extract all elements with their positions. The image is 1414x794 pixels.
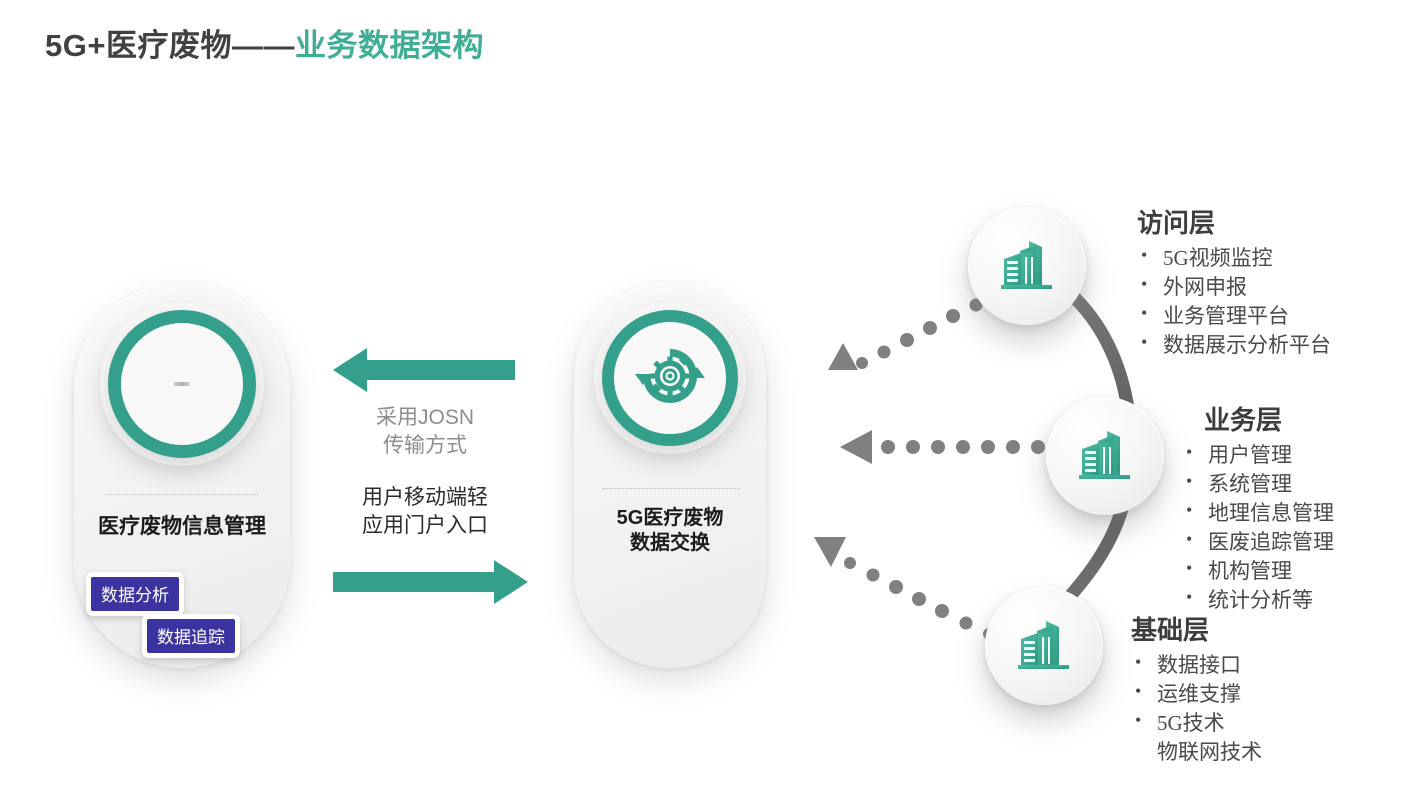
gear-recycle-icon (631, 337, 709, 420)
layer-node-business[interactable] (1046, 397, 1164, 515)
page-title-dark: 5G+医疗废物—— (45, 28, 295, 63)
list-item: 机构管理 (1182, 557, 1334, 586)
dotted-arrow-foundation (814, 537, 995, 640)
list-item: 5G视频监控 (1137, 244, 1331, 273)
connector-label-json: 采用JOSN 传输方式 (325, 404, 525, 460)
layer-group-foundation: 基础层 数据接口 运维支撑 5G技术 物联网技术 (1131, 610, 1262, 767)
layer-list-access: 5G视频监控 外网申报 业务管理平台 数据展示分析平台 (1137, 244, 1331, 360)
list-item: 数据接口 (1131, 651, 1262, 680)
list-item-continuation: 物联网技术 (1131, 738, 1262, 767)
list-item: 外网申报 (1137, 273, 1331, 302)
empty-ring-icon (108, 310, 256, 458)
card-5g-data-exchange[interactable]: 5G医疗废物 数据交换 (574, 282, 766, 668)
layer-list-foundation: 数据接口 运维支撑 5G技术 物联网技术 (1131, 651, 1262, 767)
building-icon (1074, 425, 1136, 487)
connector-label-portal: 用户移动端轻 应用门户入口 (325, 484, 525, 540)
list-item: 地理信息管理 (1182, 499, 1334, 528)
badge-data-tracking[interactable]: 数据追踪 (142, 614, 240, 658)
building-icon (996, 235, 1058, 297)
list-item: 数据展示分析平台 (1137, 331, 1331, 360)
card-title-middle-line2: 数据交换 (574, 531, 766, 556)
connector-label-portal-line2: 应用门户入口 (325, 512, 525, 540)
list-item: 医废追踪管理 (1182, 528, 1334, 557)
card-divider (603, 488, 740, 489)
connector-label-json-line2: 传输方式 (325, 432, 525, 460)
card-medical-waste-info[interactable]: 医疗废物信息管理 数据分析 数据追踪 (74, 282, 290, 668)
card-title-middle-line1: 5G医疗废物 (574, 506, 766, 531)
card-divider (105, 494, 258, 495)
list-item: 5G技术 (1131, 709, 1262, 738)
list-item: 系统管理 (1182, 470, 1334, 499)
image-placeholder-artifact (174, 382, 190, 386)
connector-label-portal-line1: 用户移动端轻 (325, 484, 525, 512)
list-item: 运维支撑 (1131, 680, 1262, 709)
gear-recycle-icon-ring (602, 310, 738, 446)
layer-node-access[interactable] (968, 207, 1086, 325)
page-title: 5G+医疗废物——业务数据架构 (45, 20, 484, 65)
card-title-left: 医疗废物信息管理 (74, 514, 290, 540)
dotted-arrow-access (828, 299, 983, 371)
list-item: 业务管理平台 (1137, 302, 1331, 331)
arrow-right-portal (333, 558, 528, 606)
layer-group-access: 访问层 5G视频监控 外网申报 业务管理平台 数据展示分析平台 (1137, 203, 1331, 360)
layer-node-foundation[interactable] (985, 587, 1103, 705)
badge-data-analysis[interactable]: 数据分析 (86, 572, 184, 616)
layer-title-access: 访问层 (1137, 203, 1331, 240)
list-item: 用户管理 (1182, 441, 1334, 470)
arrow-left-json (333, 346, 515, 394)
slide-canvas: 5G+医疗废物——业务数据架构 医疗废物信息管理 数据分析 数据追踪 (0, 0, 1414, 794)
card-title-middle: 5G医疗废物 数据交换 (574, 506, 766, 556)
layer-title-foundation: 基础层 (1131, 610, 1262, 647)
building-icon (1013, 615, 1075, 677)
layer-title-business: 业务层 (1204, 400, 1334, 437)
connector-label-json-line1: 采用JOSN (325, 404, 525, 432)
dotted-arrow-business (840, 430, 1045, 464)
page-title-accent: 业务数据架构 (295, 28, 484, 63)
layer-list-business: 用户管理 系统管理 地理信息管理 医废追踪管理 机构管理 统计分析等 (1182, 441, 1334, 615)
layer-group-business: 业务层 用户管理 系统管理 地理信息管理 医废追踪管理 机构管理 统计分析等 (1182, 400, 1334, 615)
